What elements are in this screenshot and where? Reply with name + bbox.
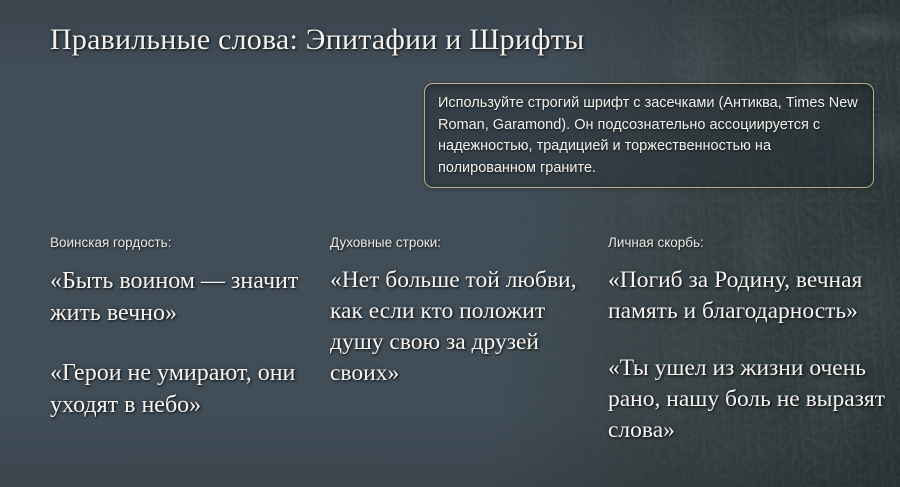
slide-content: Правильные слова: Эпитафии и Шрифты Испо… xyxy=(0,0,900,487)
epitaph-column-personal-grief: Личная скорбь: «Погиб за Родину, вечная … xyxy=(608,234,888,446)
page-title: Правильные слова: Эпитафии и Шрифты xyxy=(50,22,584,58)
epitaph-quote: «Быть воином — значит жить вечно» xyxy=(50,265,315,329)
slide-root: Правильные слова: Эпитафии и Шрифты Испо… xyxy=(0,0,900,487)
epitaph-quote: «Герои не умирают, они уходят в небо» xyxy=(50,357,315,421)
tip-callout-box: Используйте строгий шрифт с засечками (А… xyxy=(424,83,874,188)
column-label-spiritual-lines: Духовные строки: xyxy=(330,234,590,252)
epitaph-quote: «Ты ушел из жизни очень рано, нашу боль … xyxy=(608,353,888,446)
tip-callout-text: Используйте строгий шрифт с засечками (А… xyxy=(438,93,864,179)
epitaph-quote: «Погиб за Родину, вечная память и благод… xyxy=(608,265,888,327)
column-label-military-pride: Воинская гордость: xyxy=(50,234,315,252)
epitaph-column-military-pride: Воинская гордость: «Быть воином — значит… xyxy=(50,234,315,421)
epitaph-quote: «Нет больше той любви, как если кто поло… xyxy=(330,265,590,389)
column-label-personal-grief: Личная скорбь: xyxy=(608,234,888,252)
epitaph-column-spiritual-lines: Духовные строки: «Нет больше той любви, … xyxy=(330,234,590,389)
